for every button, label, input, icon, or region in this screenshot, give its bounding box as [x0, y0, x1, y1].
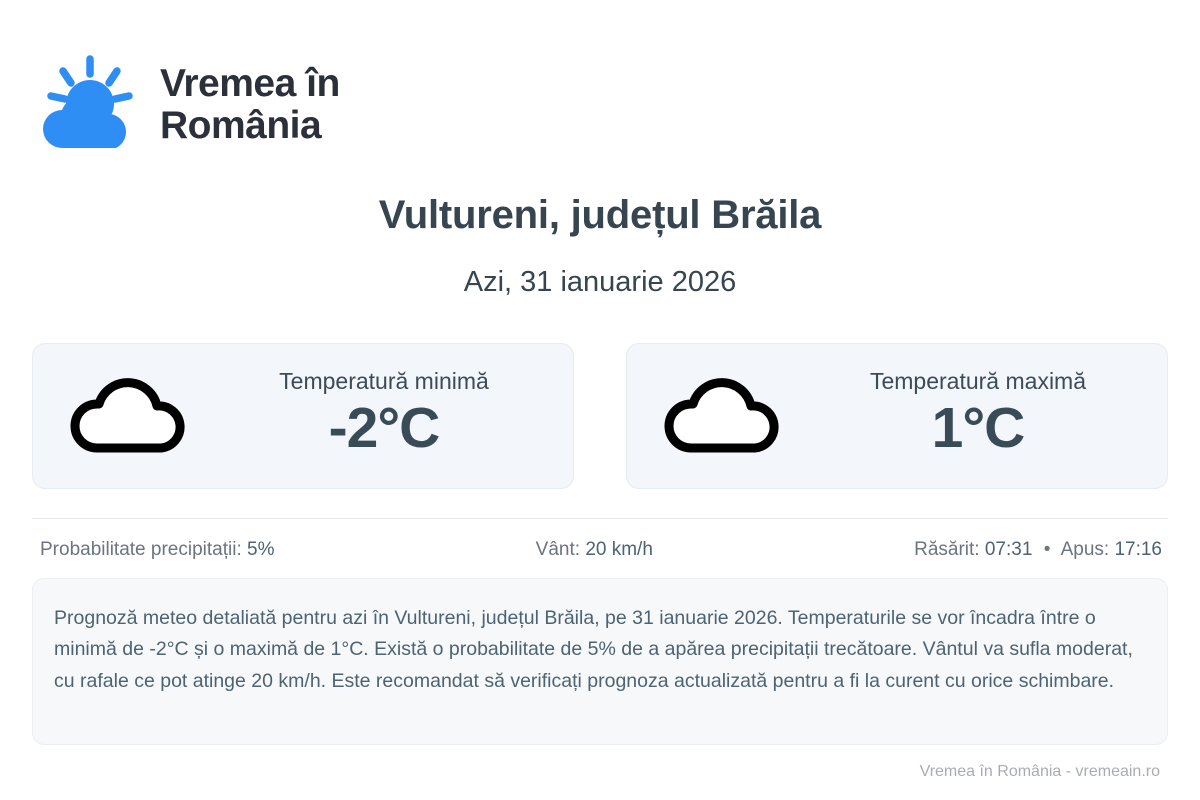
forecast-description-card: Prognoză meteo detaliată pentru azi în V…: [32, 578, 1168, 745]
sunset-label: Apus:: [1061, 539, 1110, 560]
temperature-max-value: 1°C: [932, 397, 1025, 461]
precipitation-stat: Probabilitate precipitații: 5%: [40, 539, 274, 561]
temperature-cards: Temperatură minimă -2°C Temperatură maxi…: [32, 343, 1168, 489]
sunrise-value: 07:31: [985, 539, 1033, 560]
wind-stat: Vânt: 20 km/h: [274, 539, 914, 561]
temperature-card-min: Temperatură minimă -2°C: [32, 343, 574, 489]
sun-cloud-icon: [36, 52, 142, 158]
cloud-icon: [67, 374, 195, 458]
sun-times-separator: •: [1038, 539, 1057, 560]
cloud-icon: [661, 374, 789, 458]
footer-credit: Vremea în România - vremeain.ro: [920, 763, 1160, 781]
sunrise-label: Răsărit:: [914, 539, 979, 560]
site-logo[interactable]: Vremea în România: [36, 52, 340, 158]
precipitation-label: Probabilitate precipitații:: [40, 539, 242, 560]
temperature-max-label: Temperatură maximă: [870, 367, 1086, 397]
sun-times-stat: Răsărit: 07:31 • Apus: 17:16: [914, 539, 1162, 561]
temperature-min-value: -2°C: [329, 397, 440, 461]
temperature-min-body: Temperatură minimă -2°C: [217, 367, 551, 461]
forecast-description-text: Prognoză meteo detaliată pentru azi în V…: [54, 603, 1141, 697]
temperature-max-body: Temperatură maximă 1°C: [811, 367, 1145, 461]
site-logo-text: Vremea în România: [160, 63, 340, 147]
sunset-value: 17:16: [1114, 539, 1162, 560]
weather-page: Vremea în România Vultureni, județul Bră…: [0, 0, 1200, 800]
page-subtitle: Azi, 31 ianuarie 2026: [0, 266, 1200, 299]
precipitation-value: 5%: [247, 539, 274, 560]
wind-value: 20 km/h: [585, 539, 653, 560]
section-divider: [32, 518, 1168, 519]
weather-stats-row: Probabilitate precipitații: 5% Vânt: 20 …: [40, 539, 1162, 561]
temperature-min-label: Temperatură minimă: [279, 367, 489, 397]
page-title: Vultureni, județul Brăila: [0, 193, 1200, 238]
temperature-card-max: Temperatură maximă 1°C: [626, 343, 1168, 489]
wind-label: Vânt:: [536, 539, 580, 560]
